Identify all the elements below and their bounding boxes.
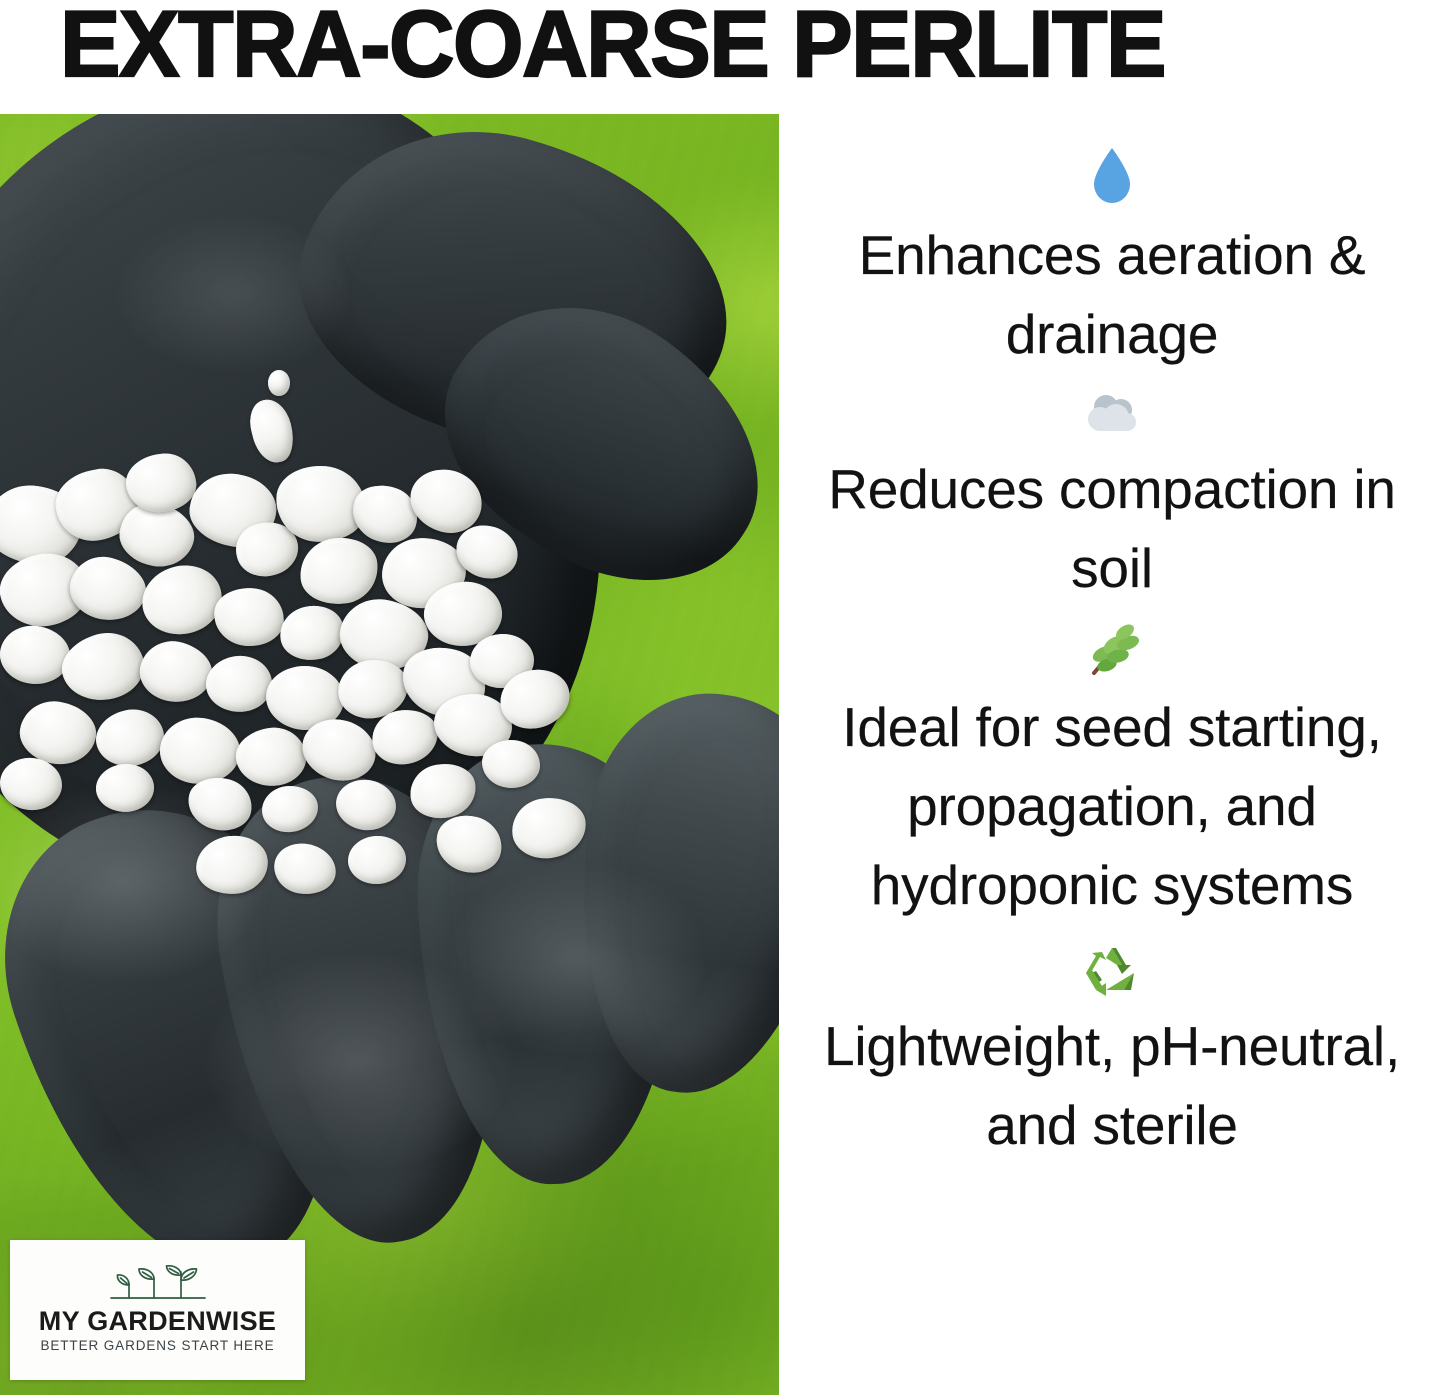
benefit-item-lightweight: Lightweight, pH-neutral, and sterile [792,925,1432,1165]
benefit-item-compaction: Reduces compaction in soil [792,374,1432,608]
page-title: EXTRA-COARSE PERLITE [60,0,1165,94]
brand-logo: MY GARDENWISE BETTER GARDENS START HERE [10,1240,305,1380]
three-sprouts-icon [99,1264,217,1304]
recycle-icon [1084,935,1140,1007]
benefits-list: Enhances aeration & drainage Reduces com… [779,114,1445,1395]
cloud-icon [1080,380,1144,450]
title-bar: EXTRA-COARSE PERLITE [0,0,1445,114]
benefit-text: Reduces compaction in soil [792,450,1432,608]
logo-tagline: BETTER GARDENS START HERE [40,1336,274,1356]
benefit-text: Lightweight, pH-neutral, and sterile [792,1007,1432,1165]
benefit-item-aeration: Enhances aeration & drainage [792,136,1432,374]
benefit-text: Enhances aeration & drainage [792,216,1432,374]
herb-sprig-icon [1083,616,1141,688]
product-photo: MY GARDENWISE BETTER GARDENS START HERE [0,114,779,1395]
benefit-text: Ideal for seed starting, propagation, an… [792,688,1432,925]
logo-brand-name: MY GARDENWISE [39,1306,276,1336]
benefit-item-seed-starting: Ideal for seed starting, propagation, an… [792,608,1432,925]
water-droplet-icon [1090,136,1134,216]
